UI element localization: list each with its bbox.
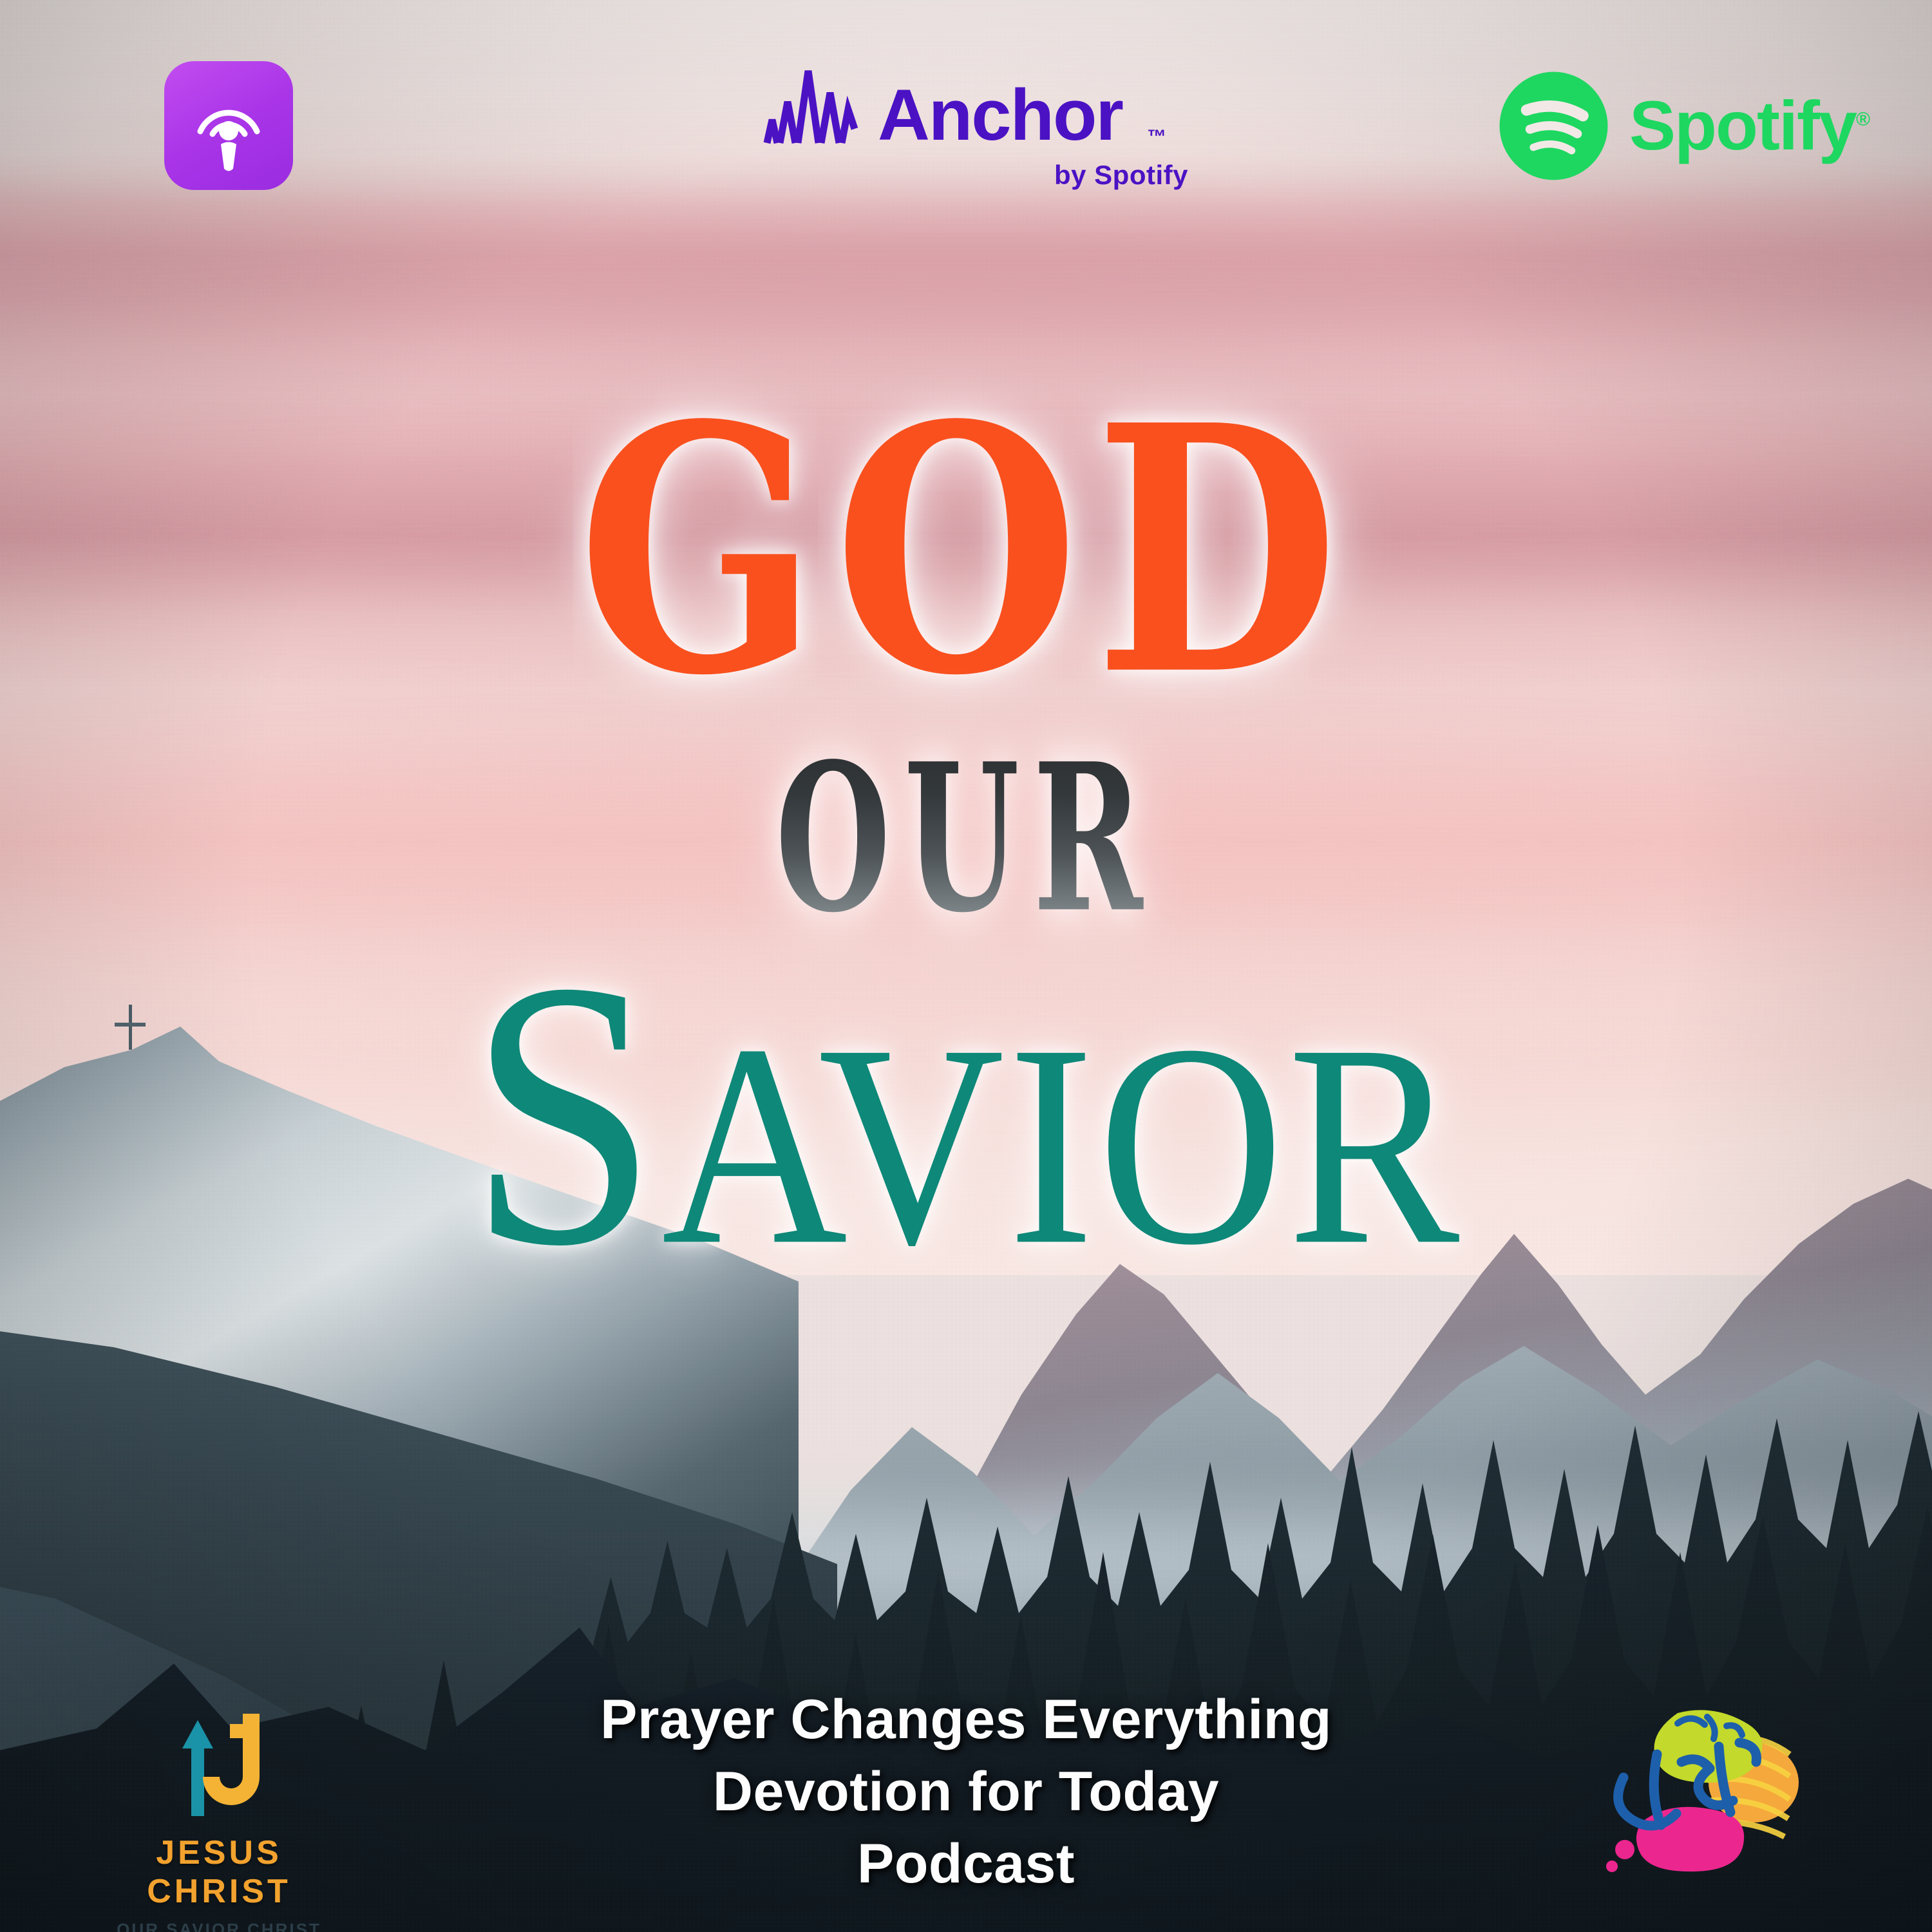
title-line-our: OUR <box>174 737 1758 940</box>
spotify-badge[interactable]: Spotify® <box>1497 64 1884 187</box>
yes-jesus-sticker-icon <box>1581 1700 1813 1893</box>
spotify-registered-icon: ® <box>1856 109 1869 130</box>
anchor-waveform-icon <box>763 64 860 148</box>
spotify-wordmark: Spotify® <box>1629 91 1869 160</box>
savior-rest: AVIOR <box>661 985 1463 1305</box>
cover-title-block: GOD OUR SAVIOR <box>0 399 1932 1284</box>
jesus-christ-logo-tagline: OUR SAVIOR CHRIST <box>97 1920 341 1932</box>
anchor-wordmark: Anchor <box>878 82 1122 148</box>
podcast-cover-art: Anchor ™ by Spotify Spotify® GOD OUR SAV… <box>0 0 1932 1932</box>
spotify-icon <box>1497 70 1610 182</box>
jesus-christ-logo-mark <box>158 1710 280 1819</box>
apple-podcasts-badge[interactable] <box>164 61 293 190</box>
title-line-god: GOD <box>68 381 1864 720</box>
jesus-christ-logo-name: JESUS CHRIST <box>97 1833 341 1911</box>
spotify-wordmark-text: Spotify <box>1629 86 1856 164</box>
anchor-trademark-icon: ™ <box>1147 126 1166 148</box>
platform-badge-row: Anchor ™ by Spotify Spotify® <box>0 0 1932 245</box>
apple-podcasts-icon <box>184 77 274 174</box>
one-way-arrow-icon <box>158 1710 280 1819</box>
yes-jesus-loves-me-logo[interactable] <box>1581 1700 1813 1893</box>
jesus-christ-logo[interactable]: JESUS CHRIST OUR SAVIOR CHRIST Forever a… <box>97 1710 341 1932</box>
anchor-byline: by Spotify <box>763 160 1188 191</box>
anchor-badge[interactable]: Anchor ™ by Spotify <box>763 64 1253 213</box>
savior-initial: S <box>469 903 662 1325</box>
title-line-savior: SAVIOR <box>0 923 1932 1304</box>
